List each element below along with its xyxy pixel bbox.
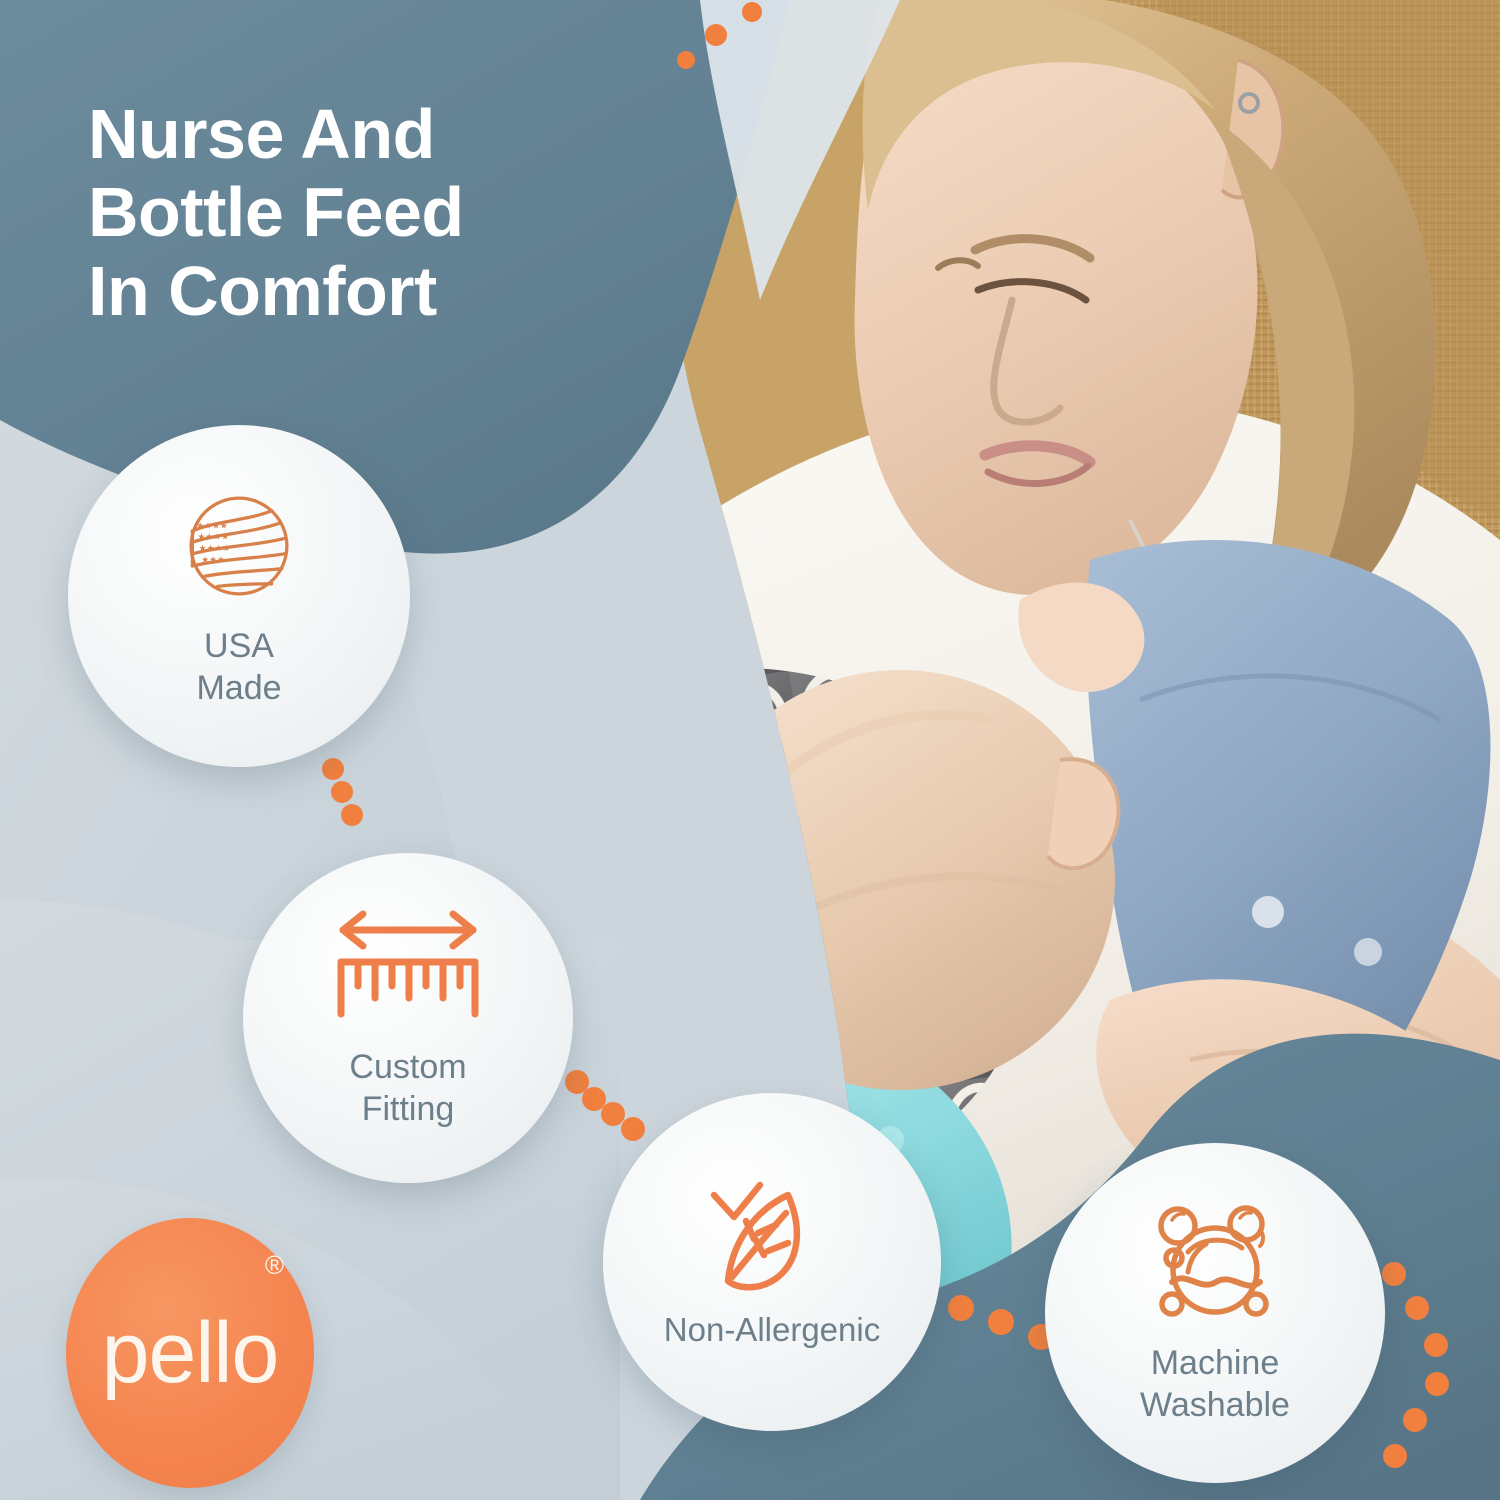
leaf-check-icon-svg (702, 1173, 842, 1295)
svg-text:★★★: ★★★ (201, 555, 225, 565)
usa-flag-circle-icon-svg: ★★★★ ★★★★ ★★★★ ★★★ (176, 483, 302, 609)
feature-badge-label: Non-Allergenic (664, 1309, 880, 1350)
feature-badge-usa-made[interactable]: ★★★★ ★★★★ ★★★★ ★★★ USA Made (68, 425, 410, 767)
svg-text:★★★★: ★★★★ (199, 544, 231, 554)
ruler-arrow-icon-svg (333, 906, 483, 1024)
feature-badge-label: Custom Fitting (349, 1046, 466, 1131)
svg-text:★★★★: ★★★★ (197, 532, 229, 542)
bubbles-wave-icon (1150, 1200, 1280, 1324)
leaf-check-icon (702, 1173, 842, 1295)
usa-flag-circle-icon: ★★★★ ★★★★ ★★★★ ★★★ (176, 483, 302, 609)
product-feature-graphic: Nurse And Bottle Feed In Comfort ★★★★ (0, 0, 1500, 1500)
bubbles-wave-icon-svg (1150, 1200, 1280, 1324)
page-title: Nurse And Bottle Feed In Comfort (88, 95, 708, 330)
feature-badge-machine-washable[interactable]: Machine Washable (1045, 1143, 1385, 1483)
registered-trademark-icon: ® (265, 1252, 284, 1278)
feature-badge-label: Machine Washable (1140, 1342, 1290, 1427)
ruler-arrow-icon (333, 906, 483, 1024)
svg-text:★★★★: ★★★★ (196, 521, 228, 531)
brand-name: pello (102, 1310, 279, 1396)
flag-stars: ★★★★ ★★★★ ★★★★ ★★★ (196, 521, 230, 565)
feature-badge-non-allergenic[interactable]: Non-Allergenic (603, 1093, 941, 1431)
brand-logo[interactable]: pello ® (66, 1218, 314, 1488)
feature-badge-label: USA Made (196, 625, 281, 710)
feature-badge-custom-fitting[interactable]: Custom Fitting (243, 853, 573, 1183)
